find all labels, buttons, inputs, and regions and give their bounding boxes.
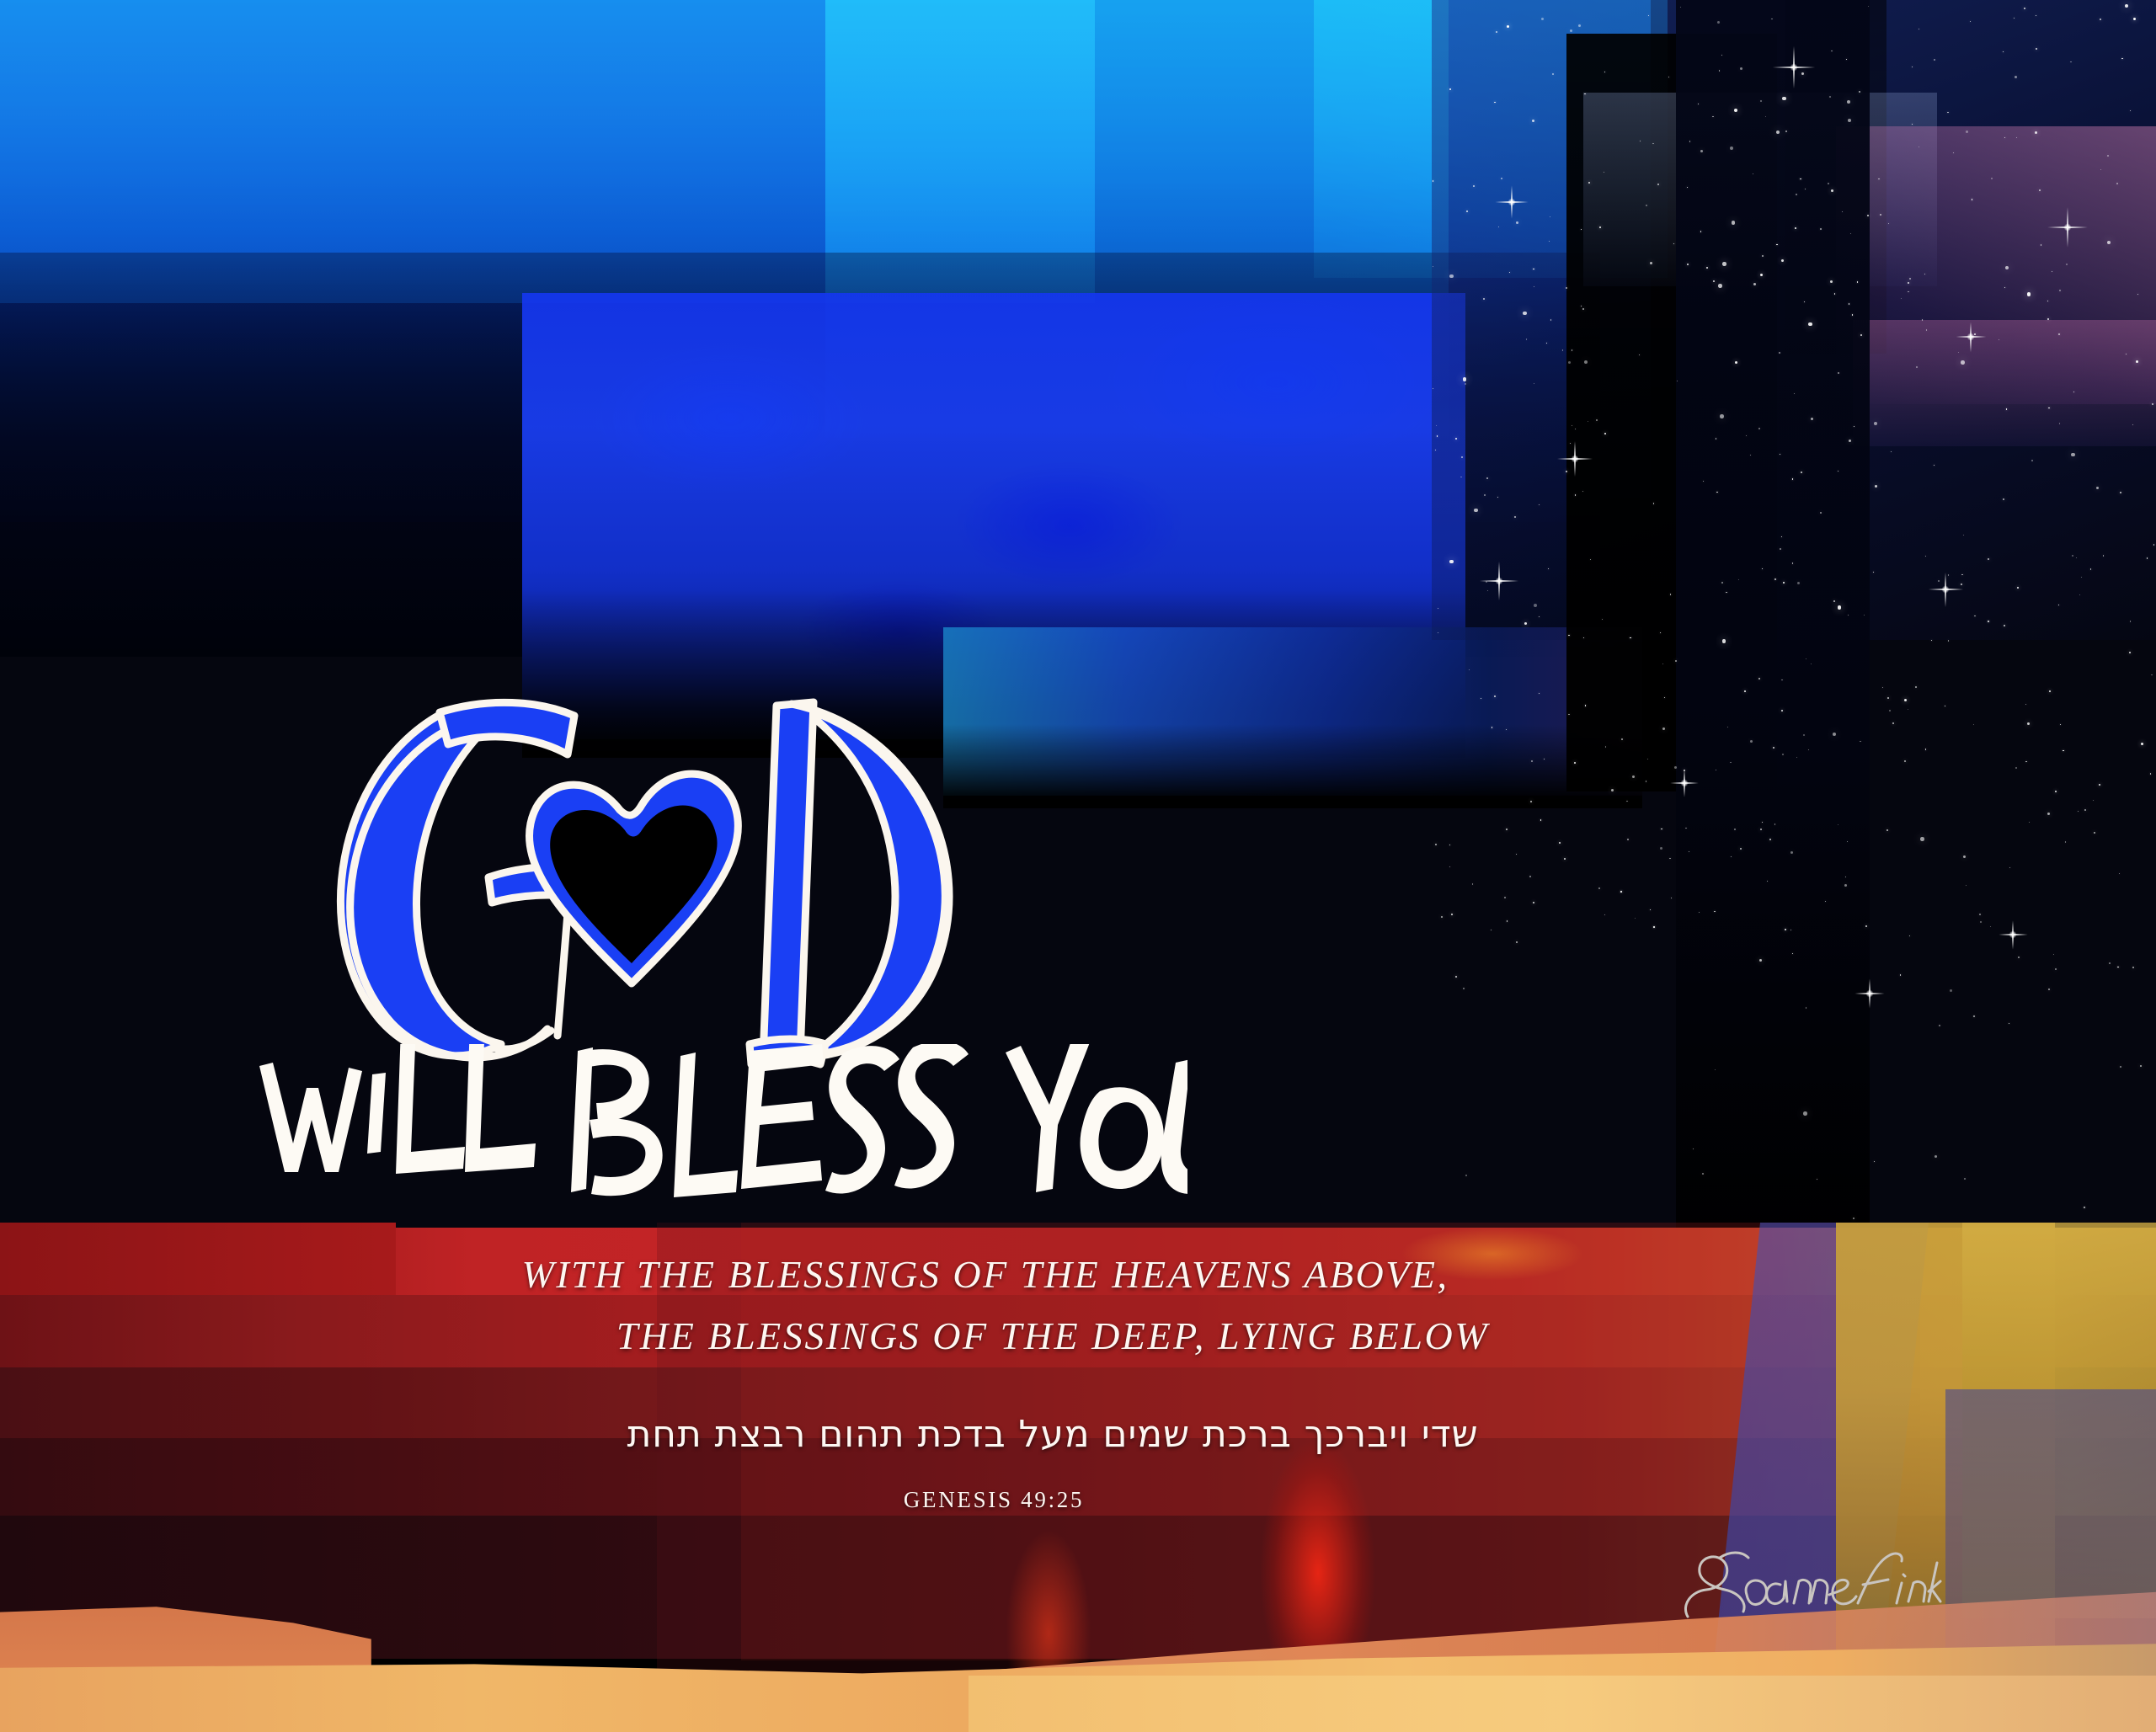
star bbox=[1646, 781, 1646, 781]
star bbox=[1516, 941, 1518, 943]
star bbox=[1516, 221, 1518, 224]
star bbox=[1716, 438, 1716, 439]
star bbox=[1922, 319, 1923, 320]
star bbox=[1849, 303, 1849, 304]
star bbox=[1792, 562, 1793, 563]
star bbox=[1734, 829, 1736, 830]
star bbox=[1506, 729, 1507, 730]
star bbox=[1744, 690, 1746, 692]
star bbox=[1455, 438, 1457, 440]
star bbox=[1438, 608, 1438, 609]
star bbox=[1494, 102, 1495, 103]
star bbox=[1867, 215, 1869, 216]
star bbox=[1808, 322, 1812, 327]
star bbox=[1790, 930, 1791, 930]
star bbox=[1700, 150, 1703, 152]
star bbox=[2093, 800, 2094, 801]
star bbox=[1990, 926, 1991, 927]
star bbox=[1781, 536, 1782, 537]
star bbox=[1449, 274, 1454, 279]
verse-line-1: WITH THE BLESSINGS OF THE HEAVENS ABOVE, bbox=[0, 1252, 2063, 1297]
star bbox=[1657, 184, 1659, 185]
star bbox=[1703, 481, 1704, 482]
star bbox=[1805, 189, 1806, 189]
star bbox=[2117, 967, 2118, 967]
star bbox=[2027, 292, 2031, 296]
star bbox=[1912, 67, 1913, 67]
star bbox=[1570, 29, 1572, 32]
star bbox=[2132, 967, 2134, 968]
dark-vertical-slab bbox=[1676, 0, 1870, 1238]
star bbox=[1722, 639, 1726, 643]
star bbox=[1785, 929, 1786, 930]
star bbox=[1486, 581, 1487, 583]
star bbox=[1908, 291, 1908, 292]
star bbox=[1915, 686, 1917, 688]
star bbox=[1584, 93, 1585, 94]
star bbox=[1909, 278, 1911, 280]
star bbox=[1831, 51, 1832, 51]
star bbox=[1529, 876, 1531, 877]
star bbox=[1715, 1069, 1716, 1070]
star bbox=[2055, 791, 2057, 792]
star bbox=[1498, 226, 1499, 227]
star bbox=[1919, 147, 1919, 147]
star bbox=[1652, 143, 1653, 144]
star-sparkle bbox=[1764, 37, 1824, 98]
star bbox=[2004, 287, 2005, 288]
star bbox=[1848, 615, 1849, 616]
star bbox=[1509, 272, 1510, 273]
star bbox=[1574, 762, 1576, 764]
star bbox=[1572, 349, 1572, 350]
star bbox=[1699, 912, 1700, 913]
star bbox=[1572, 425, 1572, 426]
star bbox=[1950, 989, 1952, 992]
star bbox=[1451, 914, 1453, 915]
star bbox=[1639, 354, 1640, 355]
star bbox=[1780, 454, 1780, 455]
star bbox=[1980, 921, 1982, 923]
star bbox=[2004, 625, 2005, 626]
star bbox=[1774, 823, 1775, 824]
starfield bbox=[1432, 0, 2156, 1246]
star bbox=[1501, 178, 1502, 179]
star bbox=[1664, 697, 1665, 698]
star bbox=[1596, 419, 1598, 421]
star bbox=[1767, 881, 1768, 882]
star bbox=[2048, 408, 2049, 408]
star bbox=[2150, 773, 2151, 774]
star bbox=[2009, 867, 2010, 868]
star bbox=[1806, 1007, 1806, 1008]
star bbox=[1825, 901, 1826, 902]
star bbox=[1920, 837, 1924, 841]
star bbox=[1689, 141, 1690, 141]
star bbox=[1904, 699, 1907, 701]
star bbox=[1465, 383, 1466, 385]
star bbox=[1803, 1111, 1807, 1116]
star bbox=[2025, 761, 2026, 762]
star bbox=[2014, 18, 2015, 19]
star-sparkle bbox=[1921, 565, 1971, 615]
star bbox=[2009, 1023, 2009, 1024]
star bbox=[1948, 574, 1949, 575]
sand-dune-highlight bbox=[969, 1676, 2156, 1732]
star bbox=[1974, 333, 1976, 335]
star bbox=[1449, 560, 1454, 564]
star bbox=[1811, 663, 1812, 664]
star bbox=[1758, 678, 1760, 679]
star bbox=[1901, 298, 1902, 299]
star bbox=[1750, 740, 1753, 743]
star bbox=[2017, 587, 2019, 589]
star bbox=[1727, 727, 1728, 727]
star bbox=[1753, 283, 1756, 285]
star bbox=[1630, 637, 1630, 638]
star bbox=[1570, 443, 1571, 444]
star bbox=[2121, 58, 2122, 59]
star bbox=[2100, 169, 2101, 170]
star bbox=[1934, 465, 1935, 466]
star bbox=[1974, 616, 1975, 616]
star bbox=[1714, 911, 1715, 912]
star bbox=[1433, 388, 1433, 389]
star bbox=[1864, 615, 1865, 616]
subhead-will-bless-you bbox=[244, 1044, 1187, 1212]
star bbox=[1963, 855, 1966, 858]
star bbox=[2153, 544, 2154, 545]
star bbox=[1717, 21, 1720, 24]
star bbox=[1496, 31, 1497, 33]
star bbox=[1473, 185, 1475, 187]
star bbox=[1438, 632, 1438, 633]
star bbox=[1820, 512, 1822, 514]
star bbox=[2058, 333, 2059, 334]
star bbox=[1988, 558, 1989, 560]
star bbox=[1646, 205, 1647, 206]
star bbox=[2024, 8, 2025, 9]
star bbox=[2070, 61, 2071, 62]
star bbox=[1660, 632, 1661, 633]
star bbox=[1548, 568, 1549, 569]
star-sparkle bbox=[1550, 434, 1600, 484]
star bbox=[1583, 637, 1584, 638]
star bbox=[1924, 274, 1925, 274]
star bbox=[1449, 845, 1450, 845]
star bbox=[2052, 271, 2052, 272]
star bbox=[2047, 318, 2049, 320]
star bbox=[1532, 120, 1534, 122]
starfield-dark-column bbox=[1566, 34, 1777, 791]
star bbox=[1684, 770, 1685, 771]
star bbox=[2072, 555, 2073, 557]
star bbox=[1680, 7, 1681, 8]
star bbox=[1796, 194, 1797, 195]
star bbox=[1908, 709, 1908, 710]
star bbox=[1925, 749, 1926, 749]
star bbox=[1544, 759, 1545, 759]
star bbox=[1581, 306, 1582, 306]
star bbox=[1838, 471, 1838, 472]
star bbox=[1564, 858, 1566, 860]
star bbox=[1516, 854, 1517, 855]
star bbox=[1437, 435, 1438, 436]
star bbox=[2107, 241, 2111, 245]
verse-hebrew: שדי ויברכך ברכת שמים מעל בדכת תהום רבצת … bbox=[0, 1413, 2131, 1456]
star bbox=[1578, 24, 1581, 27]
star bbox=[2136, 360, 2138, 363]
star bbox=[2081, 577, 2082, 578]
star bbox=[1753, 173, 1753, 174]
star bbox=[1687, 264, 1689, 265]
star bbox=[1648, 15, 1649, 16]
star bbox=[1582, 491, 1583, 492]
star bbox=[2100, 19, 2101, 20]
star bbox=[2109, 962, 2111, 964]
star bbox=[1801, 472, 1802, 473]
star bbox=[2130, 110, 2131, 111]
star bbox=[1461, 456, 1463, 458]
star bbox=[1796, 757, 1797, 758]
star bbox=[1785, 131, 1787, 132]
star bbox=[1507, 920, 1508, 921]
star bbox=[1466, 211, 1468, 212]
star bbox=[1846, 59, 1847, 60]
star bbox=[1938, 580, 1940, 582]
star bbox=[1721, 55, 1722, 56]
star bbox=[2125, 4, 2129, 8]
star bbox=[2058, 605, 2059, 605]
star bbox=[1999, 339, 1999, 340]
star bbox=[1746, 435, 1747, 436]
star bbox=[2025, 704, 2026, 705]
star bbox=[1533, 902, 1534, 903]
star bbox=[1820, 228, 1821, 229]
star bbox=[1635, 918, 1636, 919]
star bbox=[1781, 679, 1782, 680]
star bbox=[1834, 293, 1835, 294]
star bbox=[1792, 478, 1793, 479]
star bbox=[2039, 189, 2041, 191]
star bbox=[2141, 743, 2143, 745]
star bbox=[2031, 460, 2033, 461]
star bbox=[1782, 97, 1786, 101]
star bbox=[1716, 770, 1716, 770]
star bbox=[1817, 1179, 1817, 1180]
star-sparkle bbox=[1488, 179, 1535, 226]
star bbox=[1780, 548, 1781, 550]
star bbox=[2099, 784, 2100, 786]
star bbox=[1620, 891, 1621, 892]
star bbox=[1958, 352, 1959, 353]
star bbox=[1961, 574, 1962, 575]
star bbox=[1611, 789, 1614, 791]
star bbox=[1838, 605, 1842, 610]
star bbox=[1888, 223, 1889, 224]
star bbox=[1891, 451, 1892, 452]
star bbox=[1604, 72, 1605, 72]
star bbox=[1779, 352, 1780, 353]
bright-blue-rectangle bbox=[522, 293, 1465, 739]
star bbox=[1760, 274, 1763, 276]
star bbox=[1988, 621, 1988, 621]
starfield-pale-band bbox=[1583, 93, 1937, 286]
star bbox=[1484, 494, 1486, 496]
star bbox=[1760, 829, 1762, 830]
star-sparkle bbox=[2039, 199, 2096, 256]
star bbox=[1963, 535, 1964, 536]
star bbox=[1945, 706, 1945, 706]
star bbox=[1738, 579, 1739, 580]
artwork-canvas: WITH THE BLESSINGS OF THE HEAVENS ABOVE,… bbox=[0, 0, 2156, 1732]
star bbox=[1494, 695, 1496, 697]
star bbox=[1675, 660, 1677, 662]
star bbox=[1531, 760, 1533, 762]
star bbox=[1804, 301, 1805, 302]
star bbox=[1833, 600, 1835, 602]
star bbox=[1874, 422, 1878, 426]
star bbox=[1653, 503, 1654, 504]
star bbox=[2029, 822, 2030, 823]
star bbox=[1584, 360, 1588, 365]
star bbox=[1808, 749, 1809, 750]
star bbox=[1585, 705, 1586, 706]
star bbox=[1647, 759, 1648, 759]
star bbox=[1433, 1237, 1434, 1239]
star bbox=[1627, 839, 1629, 840]
star bbox=[1566, 287, 1567, 289]
star bbox=[1970, 21, 1971, 22]
star bbox=[1758, 428, 1760, 429]
red-flame-glow bbox=[1221, 1431, 1415, 1732]
star bbox=[2018, 957, 2020, 958]
starfield-blue-wash bbox=[1432, 0, 2156, 640]
star bbox=[1765, 116, 1766, 117]
star bbox=[1483, 298, 1485, 300]
star bbox=[1740, 67, 1742, 70]
star bbox=[2152, 403, 2153, 405]
star bbox=[1540, 819, 1541, 820]
star bbox=[1559, 842, 1561, 844]
star bbox=[1740, 848, 1742, 850]
star bbox=[1760, 100, 1762, 102]
star bbox=[1626, 801, 1627, 802]
star bbox=[2076, 557, 2077, 558]
star bbox=[1730, 147, 1734, 151]
star bbox=[1685, 828, 1686, 829]
star bbox=[1919, 29, 1919, 29]
star bbox=[1991, 178, 1993, 179]
star bbox=[1435, 450, 1436, 450]
star bbox=[1909, 935, 1910, 936]
star bbox=[1873, 572, 1874, 573]
star bbox=[1530, 801, 1532, 802]
star bbox=[1568, 635, 1569, 636]
star bbox=[2094, 832, 2095, 834]
star bbox=[1441, 916, 1443, 918]
star bbox=[2027, 722, 2030, 725]
artist-signature bbox=[1676, 1543, 1945, 1627]
star bbox=[1481, 698, 1481, 699]
maroon-overlay-panel bbox=[657, 1223, 1920, 1732]
star bbox=[1719, 70, 1720, 71]
star bbox=[2116, 183, 2118, 184]
star bbox=[1750, 455, 1751, 456]
star bbox=[1900, 974, 1901, 975]
star bbox=[1912, 124, 1913, 125]
star bbox=[1882, 687, 1883, 688]
star bbox=[1581, 229, 1582, 230]
star bbox=[1604, 914, 1605, 915]
star bbox=[2073, 392, 2074, 392]
star bbox=[1436, 425, 1437, 426]
star bbox=[1549, 241, 1550, 242]
star bbox=[1539, 693, 1540, 694]
star bbox=[1973, 1015, 1974, 1016]
star bbox=[1463, 988, 1465, 989]
star bbox=[1465, 1175, 1467, 1176]
star bbox=[2065, 841, 2066, 842]
star bbox=[1534, 383, 1534, 384]
star bbox=[2151, 674, 2152, 675]
star bbox=[1731, 856, 1732, 857]
star bbox=[1669, 858, 1670, 859]
star bbox=[2060, 724, 2061, 725]
star bbox=[1491, 930, 1492, 930]
star bbox=[2048, 989, 2050, 990]
star bbox=[1842, 211, 1843, 212]
star bbox=[1474, 509, 1478, 513]
star bbox=[1514, 516, 1516, 518]
star bbox=[1575, 429, 1576, 429]
star bbox=[1773, 747, 1774, 749]
star bbox=[2059, 290, 2061, 291]
star bbox=[1829, 96, 1831, 98]
star bbox=[1568, 361, 1571, 364]
star bbox=[1806, 658, 1806, 659]
star-sparkle bbox=[1471, 553, 1527, 609]
cyan-watercolor-patch bbox=[825, 0, 1449, 438]
star bbox=[1931, 640, 1932, 641]
star bbox=[1948, 640, 1949, 641]
star bbox=[1904, 760, 1906, 762]
star bbox=[1831, 189, 1833, 192]
star bbox=[1833, 733, 1837, 737]
star bbox=[1935, 1155, 1937, 1158]
star bbox=[1534, 286, 1534, 287]
star bbox=[1541, 18, 1544, 20]
star bbox=[1632, 775, 1635, 778]
star bbox=[1811, 418, 1813, 420]
star bbox=[2133, 18, 2136, 20]
star bbox=[1712, 116, 1713, 117]
star bbox=[1769, 839, 1771, 840]
star bbox=[1602, 619, 1603, 620]
headline-god-lettering bbox=[211, 682, 1053, 1069]
star bbox=[2078, 811, 2079, 812]
star bbox=[1449, 866, 1450, 867]
star bbox=[1687, 187, 1688, 188]
star bbox=[1524, 622, 1527, 625]
starfield-pink-nebula-2 bbox=[1853, 320, 2156, 446]
star bbox=[1844, 884, 1847, 887]
star bbox=[1604, 172, 1604, 173]
star bbox=[2126, 354, 2127, 354]
star bbox=[2015, 76, 2017, 78]
star bbox=[2036, 15, 2036, 16]
star bbox=[1934, 59, 1935, 61]
